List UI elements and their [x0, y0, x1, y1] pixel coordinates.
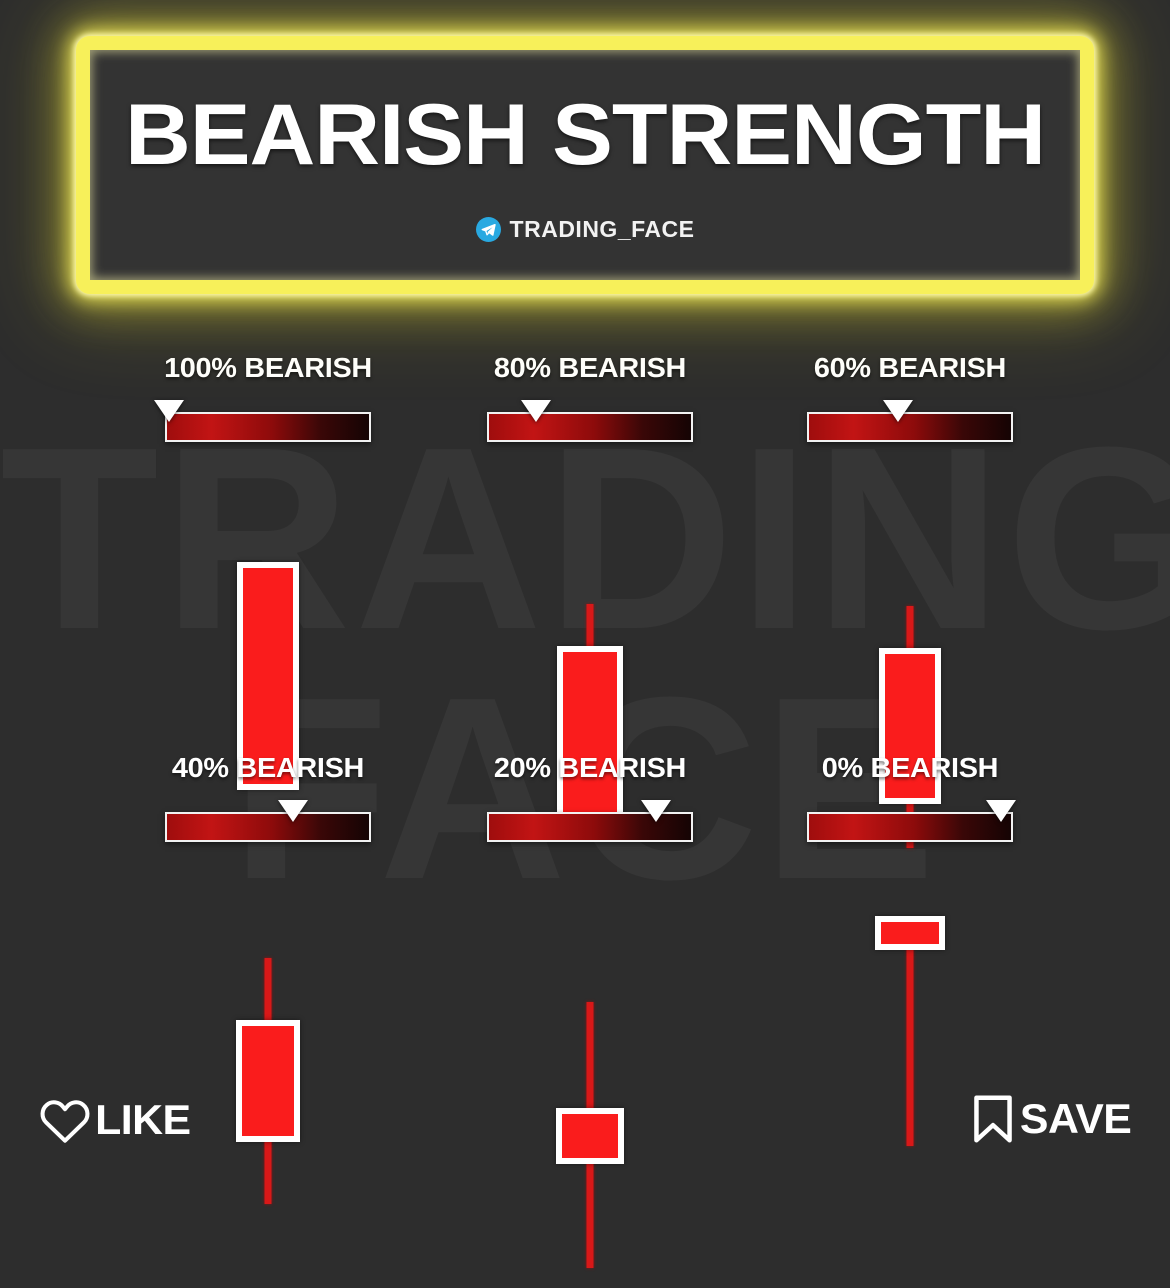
gauge-marker-triangle[interactable] — [154, 400, 184, 422]
footer-bar: LIKE SAVE — [0, 1081, 1170, 1159]
strength-gauge[interactable] — [807, 400, 1013, 442]
cell-label: 100% BEARISH — [93, 352, 443, 384]
cell-label: 60% BEARISH — [735, 352, 1085, 384]
strength-gauge[interactable] — [165, 800, 371, 842]
candle-body — [875, 916, 945, 950]
gauge-marker-triangle[interactable] — [641, 800, 671, 822]
strength-gauge[interactable] — [487, 800, 693, 842]
lower-wick — [587, 1154, 594, 1268]
gauge-bar — [165, 412, 371, 442]
strength-gauge[interactable] — [807, 800, 1013, 842]
gauge-marker-triangle[interactable] — [278, 800, 308, 822]
header-content: BEARISH STRENGTH TRADING_FACE — [90, 50, 1080, 280]
strength-gauge[interactable] — [165, 400, 371, 442]
brand-row: TRADING_FACE — [476, 216, 695, 243]
cell-label: 20% BEARISH — [415, 752, 765, 784]
telegram-icon — [476, 217, 501, 242]
strength-cell: 100% BEARISH — [98, 352, 438, 810]
header-neon-frame: BEARISH STRENGTH TRADING_FACE — [76, 36, 1094, 294]
gauge-marker-triangle[interactable] — [883, 400, 913, 422]
bearish-strength-grid: 100% BEARISH80% BEARISH60% BEARISH40% BE… — [0, 352, 1170, 1082]
gauge-bar — [807, 812, 1013, 842]
strength-gauge[interactable] — [487, 400, 693, 442]
gauge-bar — [487, 412, 693, 442]
candlestick — [98, 896, 438, 1224]
heart-icon — [38, 1095, 92, 1145]
like-label: LIKE — [95, 1099, 191, 1141]
cell-label: 0% BEARISH — [735, 752, 1085, 784]
brand-name: TRADING_FACE — [510, 216, 695, 243]
save-label: SAVE — [1020, 1098, 1131, 1140]
like-button[interactable]: LIKE — [38, 1095, 190, 1145]
gauge-bar — [165, 812, 371, 842]
gauge-marker-triangle[interactable] — [986, 800, 1016, 822]
cell-label: 80% BEARISH — [415, 352, 765, 384]
bookmark-icon — [969, 1093, 1017, 1145]
strength-cell: 20% BEARISH — [420, 752, 760, 1288]
cell-label: 40% BEARISH — [93, 752, 443, 784]
gauge-marker-triangle[interactable] — [521, 400, 551, 422]
page-title: BEARISH STRENGTH — [125, 92, 1045, 178]
save-button[interactable]: SAVE — [969, 1093, 1130, 1145]
